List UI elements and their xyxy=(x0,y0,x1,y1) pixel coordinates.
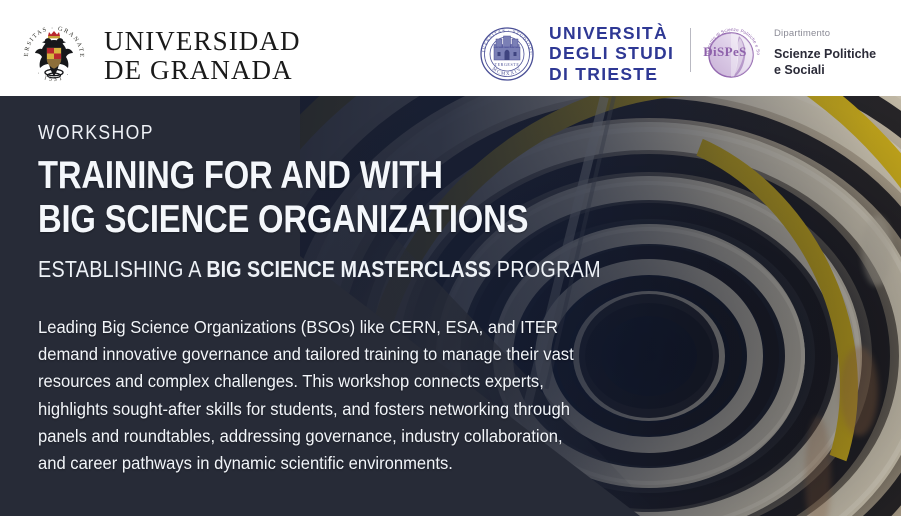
subtitle-suffix: PROGRAM xyxy=(491,256,601,282)
universita-di-trieste-wordmark: UNIVERSITÀ DEGLI STUDI DI TRIESTE xyxy=(549,23,674,84)
logo-universita-di-trieste: · UNIVERSITAS · STUDIORUM · MCMXXIV xyxy=(478,23,674,84)
subtitle-prefix: ESTABLISHING A xyxy=(38,256,206,282)
hero-background: WORKSHOP TRAINING FOR AND WITH BIG SCIEN… xyxy=(0,96,901,516)
universita-di-trieste-seal-icon: · UNIVERSITAS · STUDIORUM · MCMXXIV xyxy=(478,25,536,83)
ugr-name-line-1: UNIVERSIDAD xyxy=(104,27,301,56)
logo-dispes: Dipartimento di Scienze Politiche e Soci… xyxy=(700,22,876,84)
svg-text:TERGESTE: TERGESTE xyxy=(495,62,520,67)
eyebrow-label: WORKSHOP xyxy=(38,122,540,145)
page-title-line-1: TRAINING FOR AND WITH xyxy=(38,154,517,198)
dispes-logo-icon: Dipartimento di Scienze Politiche e Soci… xyxy=(700,22,762,84)
subtitle-emphasis: BIG SCIENCE MASTERCLASS xyxy=(206,256,491,282)
logo-universidad-de-granada: UNIVERSITAS · GRANATENSIS · 1531 · xyxy=(18,20,301,92)
hero-content: WORKSHOP TRAINING FOR AND WITH BIG SCIEN… xyxy=(38,122,608,477)
svg-text:MCMXXIV: MCMXXIV xyxy=(491,66,523,77)
description-paragraph: Leading Big Science Organizations (BSOs)… xyxy=(38,314,578,477)
workshop-poster: WORKSHOP TRAINING FOR AND WITH BIG SCIEN… xyxy=(0,0,901,516)
dispes-department-label: Dipartimento xyxy=(774,28,876,39)
ugr-name-line-2: DE GRANADA xyxy=(104,56,301,85)
svg-text:DiSPeS: DiSPeS xyxy=(703,44,747,59)
universidad-de-granada-wordmark: UNIVERSIDAD DE GRANADA xyxy=(104,27,301,85)
uts-name-line-3: DI TRIESTE xyxy=(549,64,674,84)
partner-logo-bar: UNIVERSITAS · GRANATENSIS · 1531 · xyxy=(0,0,901,96)
uts-name-line-2: DEGLI STUDI xyxy=(549,43,674,63)
page-title-line-2: BIG SCIENCE ORGANIZATIONS xyxy=(38,198,517,242)
dispes-name-line-2: e Sociali xyxy=(774,62,876,78)
dispes-wordmark: Dipartimento Scienze Politiche e Sociali xyxy=(774,28,876,78)
logo-divider xyxy=(690,28,691,72)
page-title: TRAINING FOR AND WITH BIG SCIENCE ORGANI… xyxy=(38,154,517,242)
uts-name-line-1: UNIVERSITÀ xyxy=(549,23,674,43)
page-subtitle: ESTABLISHING A BIG SCIENCE MASTERCLASS P… xyxy=(38,256,528,283)
universidad-de-granada-crest-icon: UNIVERSITAS · GRANATENSIS · 1531 · xyxy=(18,20,90,92)
dispes-name-line-1: Scienze Politiche xyxy=(774,46,876,62)
